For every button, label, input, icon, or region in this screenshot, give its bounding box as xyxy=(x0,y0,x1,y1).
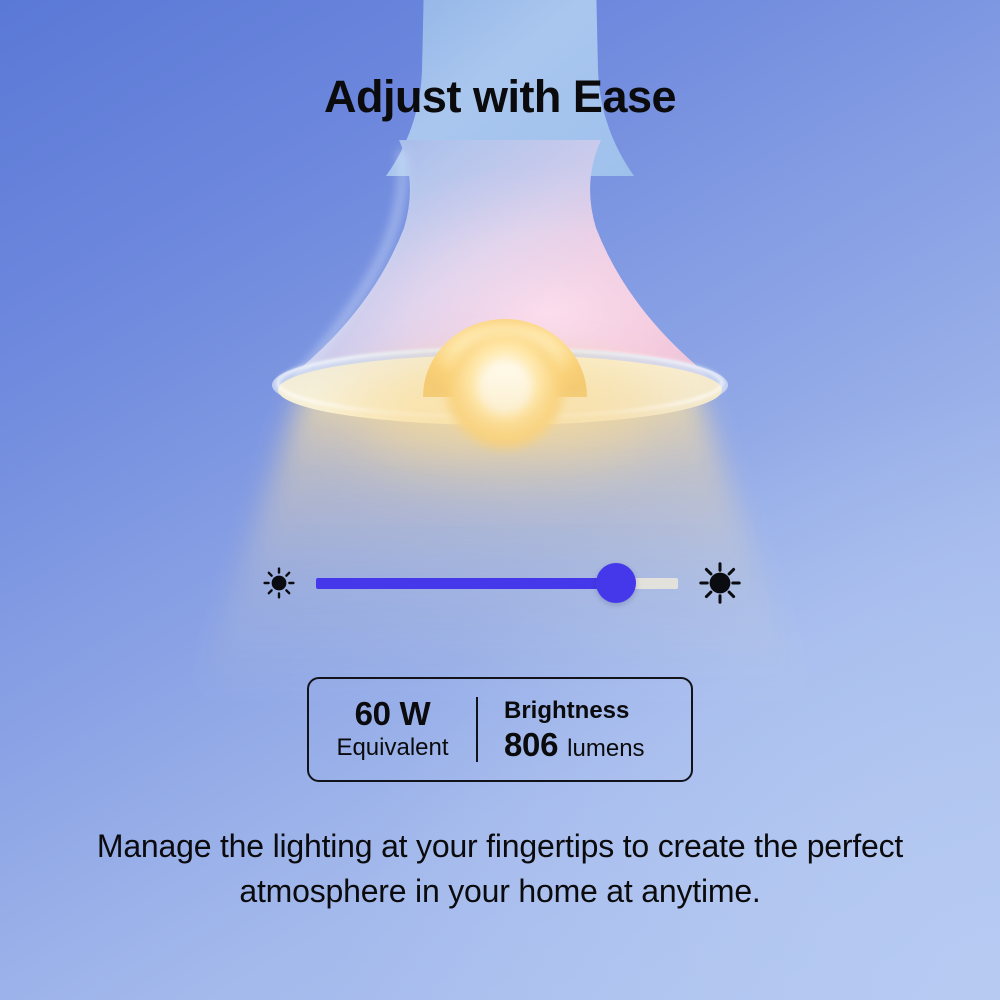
promo-banner: Adjust with Ease xyxy=(0,0,1000,1000)
spec-brightness: Brightness 806 lumens xyxy=(478,679,691,780)
under-rim-spill xyxy=(355,384,655,476)
brightness-slider-row xyxy=(262,551,742,615)
bulb-left-highlight xyxy=(296,150,403,378)
wattage-value: 60 W xyxy=(355,695,431,733)
brightness-heading: Brightness xyxy=(504,695,629,726)
led-hotspot xyxy=(479,362,531,414)
brightness-slider[interactable] xyxy=(316,562,678,604)
emitter-halo xyxy=(315,336,695,460)
brightness-value: 806 xyxy=(504,726,558,764)
spec-wattage: 60 W Equivalent xyxy=(309,679,476,780)
bulb-rim-outer xyxy=(272,347,728,423)
brightness-value-line: 806 lumens xyxy=(504,726,645,764)
bulb-rim-highlight xyxy=(278,349,722,417)
page-title: Adjust with Ease xyxy=(0,72,1000,122)
sun-small-icon xyxy=(262,566,296,600)
spec-box: 60 W Equivalent Brightness 806 lumens xyxy=(307,677,693,782)
bulb-shell-shading xyxy=(290,140,710,382)
slider-thumb[interactable] xyxy=(596,563,636,603)
led-core-glow xyxy=(447,332,563,448)
led-dome xyxy=(423,319,587,397)
page-description: Manage the lighting at your fingertips t… xyxy=(70,824,930,915)
light-cone xyxy=(195,385,805,700)
brightness-unit: lumens xyxy=(567,735,644,763)
bulb-rim-inner xyxy=(278,355,722,425)
slider-track-fill xyxy=(316,578,616,589)
wattage-label: Equivalent xyxy=(336,733,448,762)
bulb-shell xyxy=(290,140,710,382)
sun-large-icon xyxy=(698,561,742,605)
